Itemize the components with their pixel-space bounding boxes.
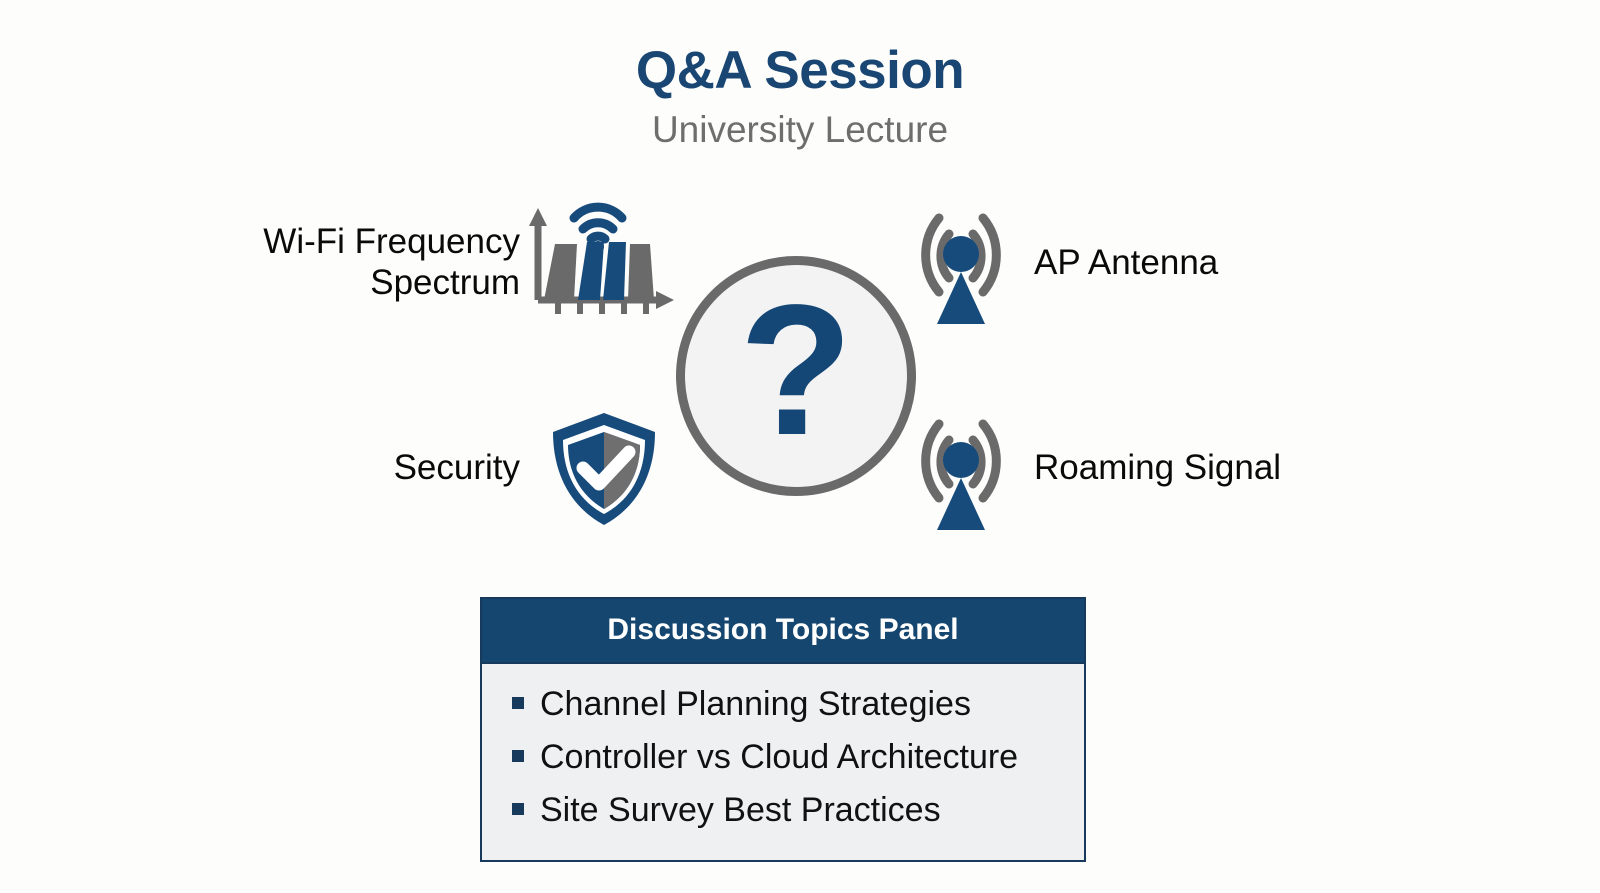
slide-canvas: Q&A Session University Lecture Wi-Fi Fre… xyxy=(0,0,1600,893)
discussion-topics-panel: Discussion Topics Panel Channel Planning… xyxy=(480,597,1086,862)
node-label-ap-antenna: AP Antenna xyxy=(1034,243,1218,284)
list-item: Site Survey Best Practices xyxy=(512,788,1084,833)
slide-header: Q&A Session University Lecture xyxy=(0,44,1600,148)
node-label-roaming-signal: Roaming Signal xyxy=(1034,448,1281,489)
bullet-square-icon xyxy=(512,750,524,762)
list-item: Controller vs Cloud Architecture xyxy=(512,735,1084,780)
bullet-square-icon xyxy=(512,803,524,815)
topic-label: Controller vs Cloud Architecture xyxy=(540,735,1018,780)
question-mark-glyph: ? xyxy=(676,256,916,496)
topic-label: Channel Planning Strategies xyxy=(540,682,971,727)
node-label-wifi-frequency-spectrum: Wi-Fi Frequency Spectrum xyxy=(180,222,520,304)
list-item: Channel Planning Strategies xyxy=(512,682,1084,727)
antenna-signal-icon-ap xyxy=(897,198,1025,326)
panel-topics-list: Channel Planning Strategies Controller v… xyxy=(482,664,1084,860)
page-title: Q&A Session xyxy=(0,44,1600,97)
page-subtitle: University Lecture xyxy=(0,111,1600,148)
topic-label: Site Survey Best Practices xyxy=(540,788,941,833)
spectrum-chart-icon xyxy=(518,200,678,318)
question-mark-circle: ? xyxy=(676,256,916,496)
bullet-square-icon xyxy=(512,697,524,709)
antenna-signal-icon-roaming xyxy=(897,404,1025,532)
node-label-security: Security xyxy=(240,448,520,489)
shield-check-icon xyxy=(545,410,663,528)
panel-header-title: Discussion Topics Panel xyxy=(482,599,1084,664)
